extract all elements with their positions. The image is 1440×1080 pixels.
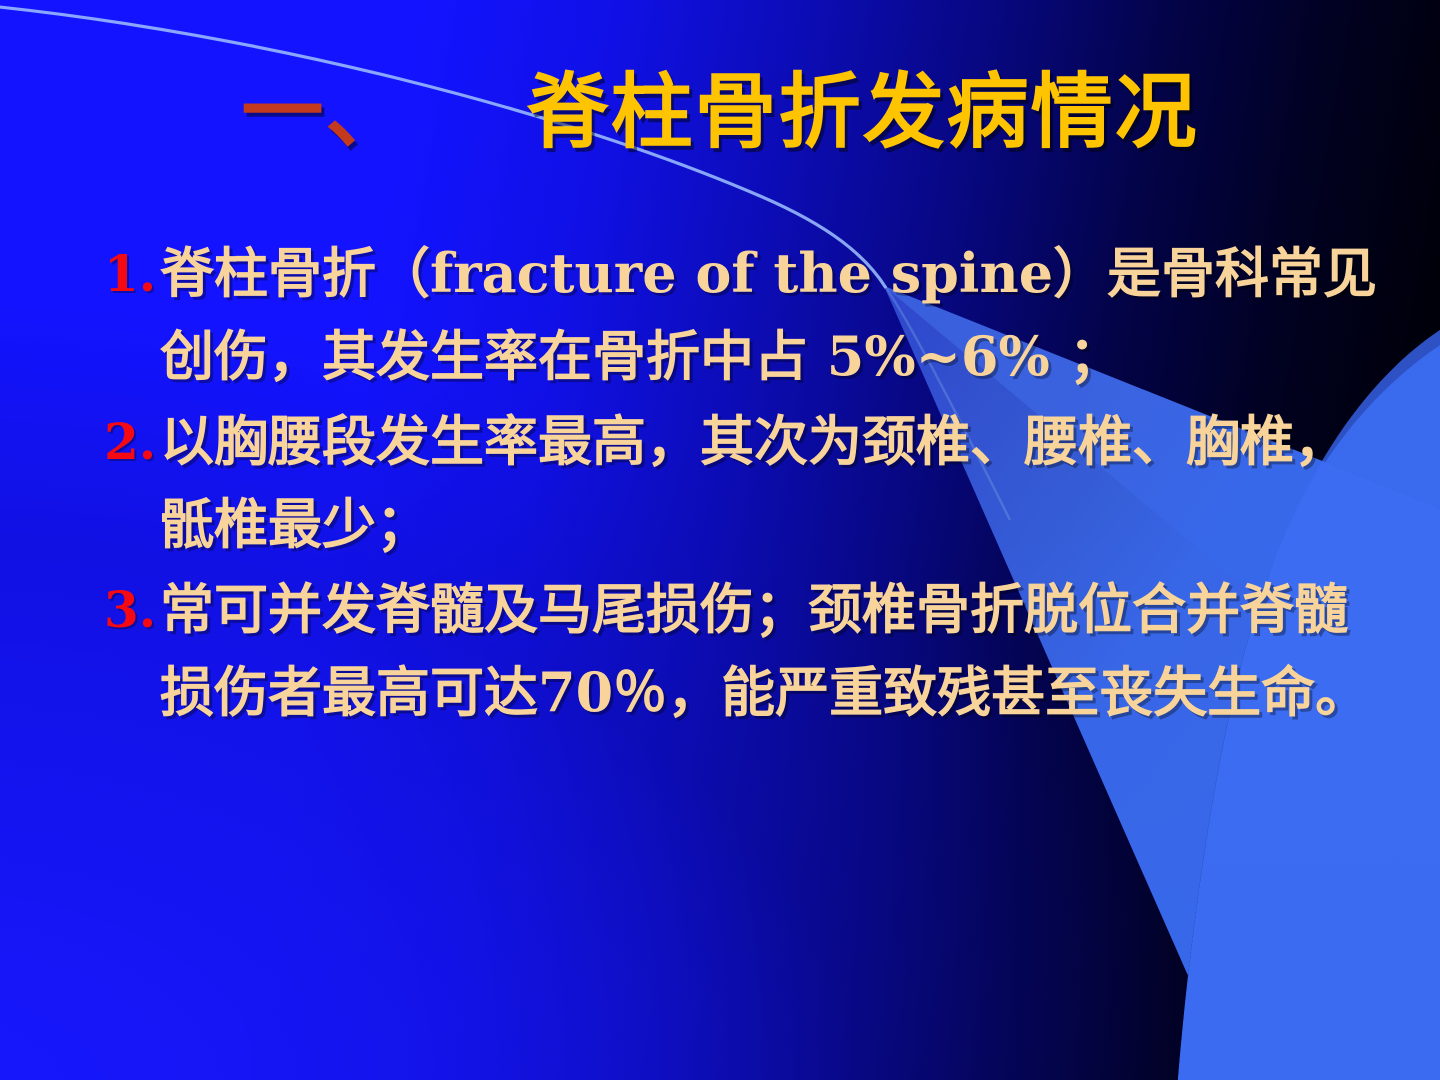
list-item-number: 1. <box>96 232 160 315</box>
list-item-text: 以胸腰段发生率最高，其次为颈椎、腰椎、胸椎，骶椎最少； <box>160 400 1396 566</box>
presentation-slide: 一、 脊柱骨折发病情况 1. 脊柱骨折（fracture of the spin… <box>0 0 1440 1080</box>
list-item-text: 常可并发脊髓及马尾损伤；颈椎骨折脱位合并脊髓损伤者最高可达70％，能严重致残甚至… <box>160 568 1396 734</box>
title-main-text: 脊柱骨折发病情况 <box>527 65 1199 160</box>
list-item: 1. 脊柱骨折（fracture of the spine）是骨科常见创伤，其发… <box>96 232 1396 398</box>
list-item-text: 脊柱骨折（fracture of the spine）是骨科常见创伤，其发生率在… <box>160 232 1396 398</box>
page-title: 一、 脊柱骨折发病情况 <box>0 70 1440 156</box>
list-item: 3. 常可并发脊髓及马尾损伤；颈椎骨折脱位合并脊髓损伤者最高可达70％，能严重致… <box>96 568 1396 734</box>
content-list: 1. 脊柱骨折（fracture of the spine）是骨科常见创伤，其发… <box>96 232 1396 736</box>
title-section-number: 一、 <box>241 65 409 160</box>
list-item-number: 3. <box>96 568 160 651</box>
list-item: 2. 以胸腰段发生率最高，其次为颈椎、腰椎、胸椎，骶椎最少； <box>96 400 1396 566</box>
list-item-number: 2. <box>96 400 160 483</box>
